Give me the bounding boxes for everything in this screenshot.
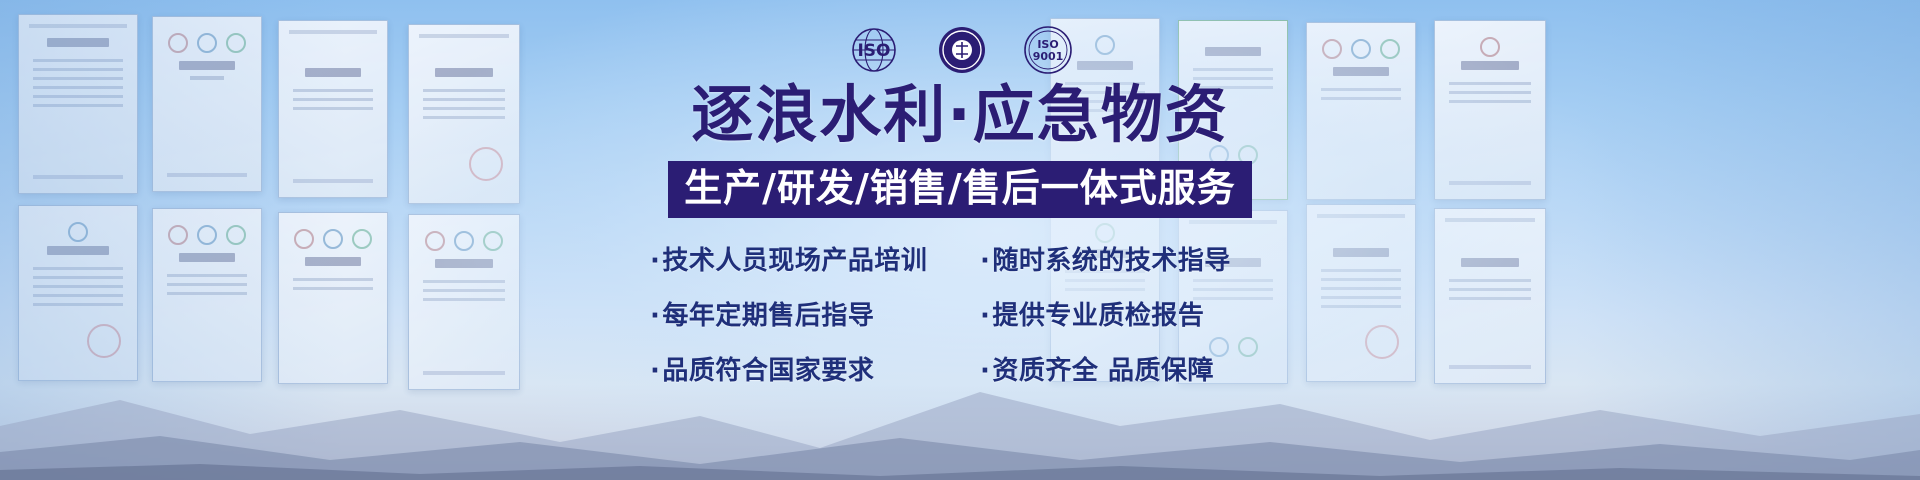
certificate-logo-row (19, 222, 137, 242)
certificate-header-rule (1445, 218, 1535, 222)
page-title: 逐浪水利·应急物资 (610, 82, 1310, 147)
banner-content: ISO ISO 9001 逐浪水利·应急物资 生产/研发/销售/售后一体式服务 … (610, 0, 1310, 480)
certificate-text-lines (33, 59, 123, 107)
feature-label: 技术人员现场产品培训 (662, 246, 927, 276)
certification-badge-row: ISO ISO 9001 (610, 0, 1310, 70)
certificate-text-lines (1449, 82, 1531, 103)
certificate-title-block (1333, 67, 1389, 76)
certificate-card (1306, 22, 1416, 200)
iso-globe-badge-icon: ISO (845, 26, 903, 74)
certificate-text-lines (423, 89, 505, 119)
certificate-text-lines (167, 274, 247, 295)
bullet-dot-icon: · (650, 301, 660, 331)
certificate-logo-row (153, 33, 261, 53)
certificate-text-lines (33, 267, 123, 306)
certificate-footer-rule (167, 173, 247, 177)
subtitle-bar-wrap: 生产/研发/销售/售后一体式服务 (610, 147, 1310, 218)
certificate-title-block (47, 246, 108, 255)
certificate-logo-row (279, 229, 387, 249)
feature-label: 随时系统的技术指导 (992, 246, 1231, 276)
certificate-logo-row (1435, 37, 1545, 57)
certificate-logo-row (153, 225, 261, 245)
certificate-title-block (47, 38, 108, 47)
certificate-card (152, 16, 262, 192)
bullet-dot-icon: · (980, 301, 990, 331)
certificate-header-rule (419, 34, 509, 38)
certificate-logo-row (1307, 39, 1415, 59)
feature-label: 提供专业质检报告 (992, 301, 1204, 331)
certificate-title-block (179, 253, 235, 262)
feature-list: ·技术人员现场产品培训 ·随时系统的技术指导 ·每年定期售后指导 ·提供专业质检… (630, 240, 1290, 387)
certificate-text-lines (423, 280, 505, 301)
certificate-title-block (435, 68, 492, 77)
certificate-footer-rule (33, 175, 123, 179)
certificate-text-lines (1449, 279, 1531, 300)
certificate-header-rule (29, 24, 127, 28)
feature-label: 资质齐全 品质保障 (992, 356, 1214, 386)
cqc-seal-badge-icon (937, 25, 987, 75)
certificate-footer-rule (1449, 181, 1531, 185)
certificate-text-lines (293, 278, 373, 290)
certificate-card (278, 20, 388, 198)
bullet-dot-icon: · (650, 356, 660, 386)
bullet-dot-icon: · (980, 356, 990, 386)
bullet-dot-icon: · (980, 246, 990, 276)
certificate-logo-row (409, 231, 519, 251)
promo-banner: ISO ISO 9001 逐浪水利·应急物资 生产/研发/销售/售后一体式服务 … (0, 0, 1920, 480)
certificate-title-block (435, 259, 492, 268)
certificate-card (1434, 20, 1546, 200)
certificate-title-block (1333, 248, 1389, 257)
feature-item: ·每年定期售后指导 (630, 295, 958, 332)
feature-item: ·资质齐全 品质保障 (962, 350, 1290, 387)
certificate-subtitle-block (190, 76, 225, 80)
iso9001-badge-icon: ISO 9001 (1021, 25, 1075, 75)
certificate-card (408, 24, 520, 204)
certificate-seal (469, 147, 503, 181)
bullet-dot-icon: · (650, 246, 660, 276)
certificate-title-block (305, 68, 361, 77)
feature-item: ·品质符合国家要求 (630, 350, 958, 387)
certificate-text-lines (1321, 269, 1401, 308)
feature-item: ·提供专业质检报告 (962, 295, 1290, 332)
certificate-title-block (179, 61, 235, 70)
feature-item: ·随时系统的技术指导 (962, 240, 1290, 277)
feature-label: 每年定期售后指导 (662, 301, 874, 331)
certificate-footer-rule (293, 179, 373, 183)
certificate-text-lines (1321, 88, 1401, 100)
certificate-header-rule (1317, 214, 1405, 218)
certificate-card (18, 14, 138, 194)
certificate-title-block (1461, 61, 1518, 70)
certificate-title-block (305, 257, 361, 266)
certificate-title-block (1461, 258, 1518, 267)
svg-text:ISO: ISO (857, 41, 890, 61)
svg-text:9001: 9001 (1033, 50, 1064, 63)
feature-label: 品质符合国家要求 (662, 356, 874, 386)
feature-item: ·技术人员现场产品培训 (630, 240, 958, 277)
service-subtitle-bar: 生产/研发/销售/售后一体式服务 (668, 161, 1252, 218)
certificate-header-rule (289, 30, 377, 34)
certificate-text-lines (293, 89, 373, 110)
